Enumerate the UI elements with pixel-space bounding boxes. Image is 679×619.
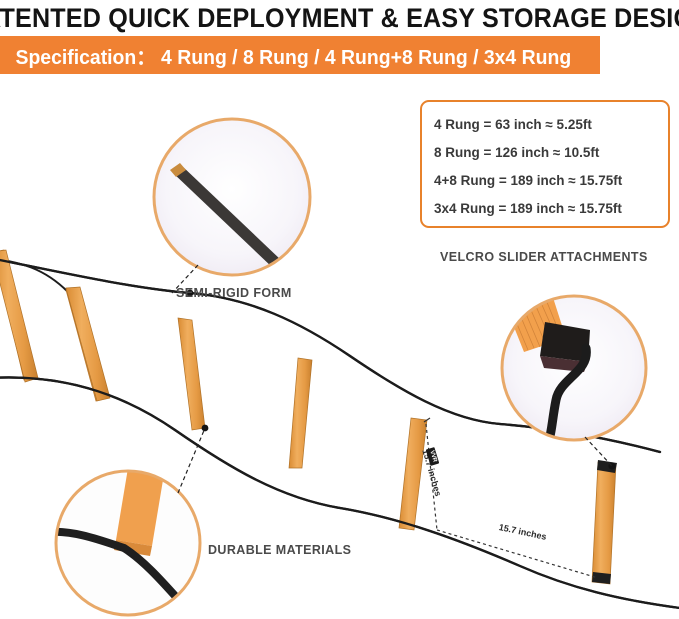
- callout-velcro-slider: [500, 282, 646, 466]
- ladder-bottom-cord: [0, 377, 679, 608]
- ladder-rungs: [0, 250, 190, 401]
- rung-cap-bottom: [592, 572, 611, 584]
- callout-lens-1-ring: [154, 119, 310, 275]
- semi-rigid-rod-tip: [170, 163, 186, 177]
- ladder-rung-6: [592, 462, 616, 584]
- ladder-top-cord-overlay: [0, 258, 660, 452]
- durable-rung: [116, 468, 164, 546]
- spec-line-4rung: 4 Rung = 63 inch ≈ 5.25ft: [434, 111, 668, 139]
- callout-label-semi-rigid-form: SEMI-RIGID FORM: [176, 286, 292, 300]
- specification-box: 4 Rung = 63 inch ≈ 5.25ft 8 Rung = 126 i…: [420, 100, 670, 228]
- ladder-node-durable: [202, 425, 209, 432]
- ladder-rung-5: [399, 418, 427, 530]
- callout-lens-3-ring: [56, 471, 200, 615]
- ladder-bottom-cord-overlay: [0, 377, 679, 608]
- callout-lens-2-fill: [502, 296, 646, 440]
- dimension-line-horizontal: [437, 530, 598, 578]
- specification-banner-label: Specification： 4 Rung / 8 Rung / 4 Rung+…: [0, 41, 571, 70]
- callout-label-durable-materials: DURABLE MATERIALS: [208, 543, 351, 557]
- durable-cord-right: [124, 548, 186, 608]
- ladder-rung-left-edge: [0, 250, 38, 382]
- callout-lens-2-ring: [502, 296, 646, 440]
- page-title: PATENTED QUICK DEPLOYMENT & EASY STORAGE…: [0, 3, 679, 33]
- header-title-bar: PATENTED QUICK DEPLOYMENT & EASY STORAGE…: [0, 0, 679, 36]
- ladder-node-velcro: [608, 462, 615, 469]
- callout-semi-rigid-form: [154, 119, 310, 293]
- velcro-cord: [548, 348, 586, 444]
- callout-durable-materials: [46, 428, 205, 615]
- spec-line-8rung: 8 Rung = 126 inch ≈ 10.5ft: [434, 139, 668, 167]
- ladder-rung-1: [66, 288, 108, 401]
- durable-cord-left: [46, 532, 124, 548]
- callout-lens-3-fill: [56, 471, 200, 615]
- dimension-label-horizontal: 15.7 inches: [498, 522, 548, 542]
- callout-leader-2: [585, 437, 612, 466]
- ladder-rung-3: [178, 318, 205, 430]
- dimension-guides: [424, 418, 598, 578]
- spec-line-4plus8rung: 4+8 Rung = 189 inch ≈ 15.75ft: [434, 167, 668, 195]
- ladder-rung-1b: [99, 288, 185, 397]
- velcro-patch-shadow: [540, 356, 588, 372]
- product-illustration: [0, 0, 679, 619]
- ladder-rung-2: [66, 287, 110, 401]
- ladder-cord-seg-a: [0, 258, 68, 292]
- callout-leader-3: [178, 428, 205, 493]
- specification-banner: Specification： 4 Rung / 8 Rung / 4 Rung+…: [0, 36, 600, 74]
- velcro-strap-texture: [504, 285, 562, 350]
- durable-rung-shadow: [114, 540, 152, 556]
- velcro-black-patch: [540, 322, 590, 362]
- dimension-tick-top: [424, 418, 430, 422]
- velcro-strap: [500, 282, 566, 352]
- ladder-rung-1c: [101, 318, 188, 398]
- product-infographic: PATENTED QUICK DEPLOYMENT & EASY STORAGE…: [0, 0, 679, 619]
- ladder-rung-0: [0, 250, 36, 380]
- rung-cap-top: [597, 460, 617, 473]
- ladder-rung-4: [289, 358, 312, 468]
- ladder-top-cord: [0, 258, 660, 452]
- ladder-rung-1d: [100, 317, 190, 396]
- spec-line-3x4rung: 3x4 Rung = 189 inch ≈ 15.75ft: [434, 195, 668, 223]
- callout-lens-1-fill: [154, 119, 310, 275]
- semi-rigid-rod: [172, 164, 302, 288]
- callout-label-velcro-slider-attachments: VELCRO SLIDER ATTACHMENTS: [440, 250, 648, 264]
